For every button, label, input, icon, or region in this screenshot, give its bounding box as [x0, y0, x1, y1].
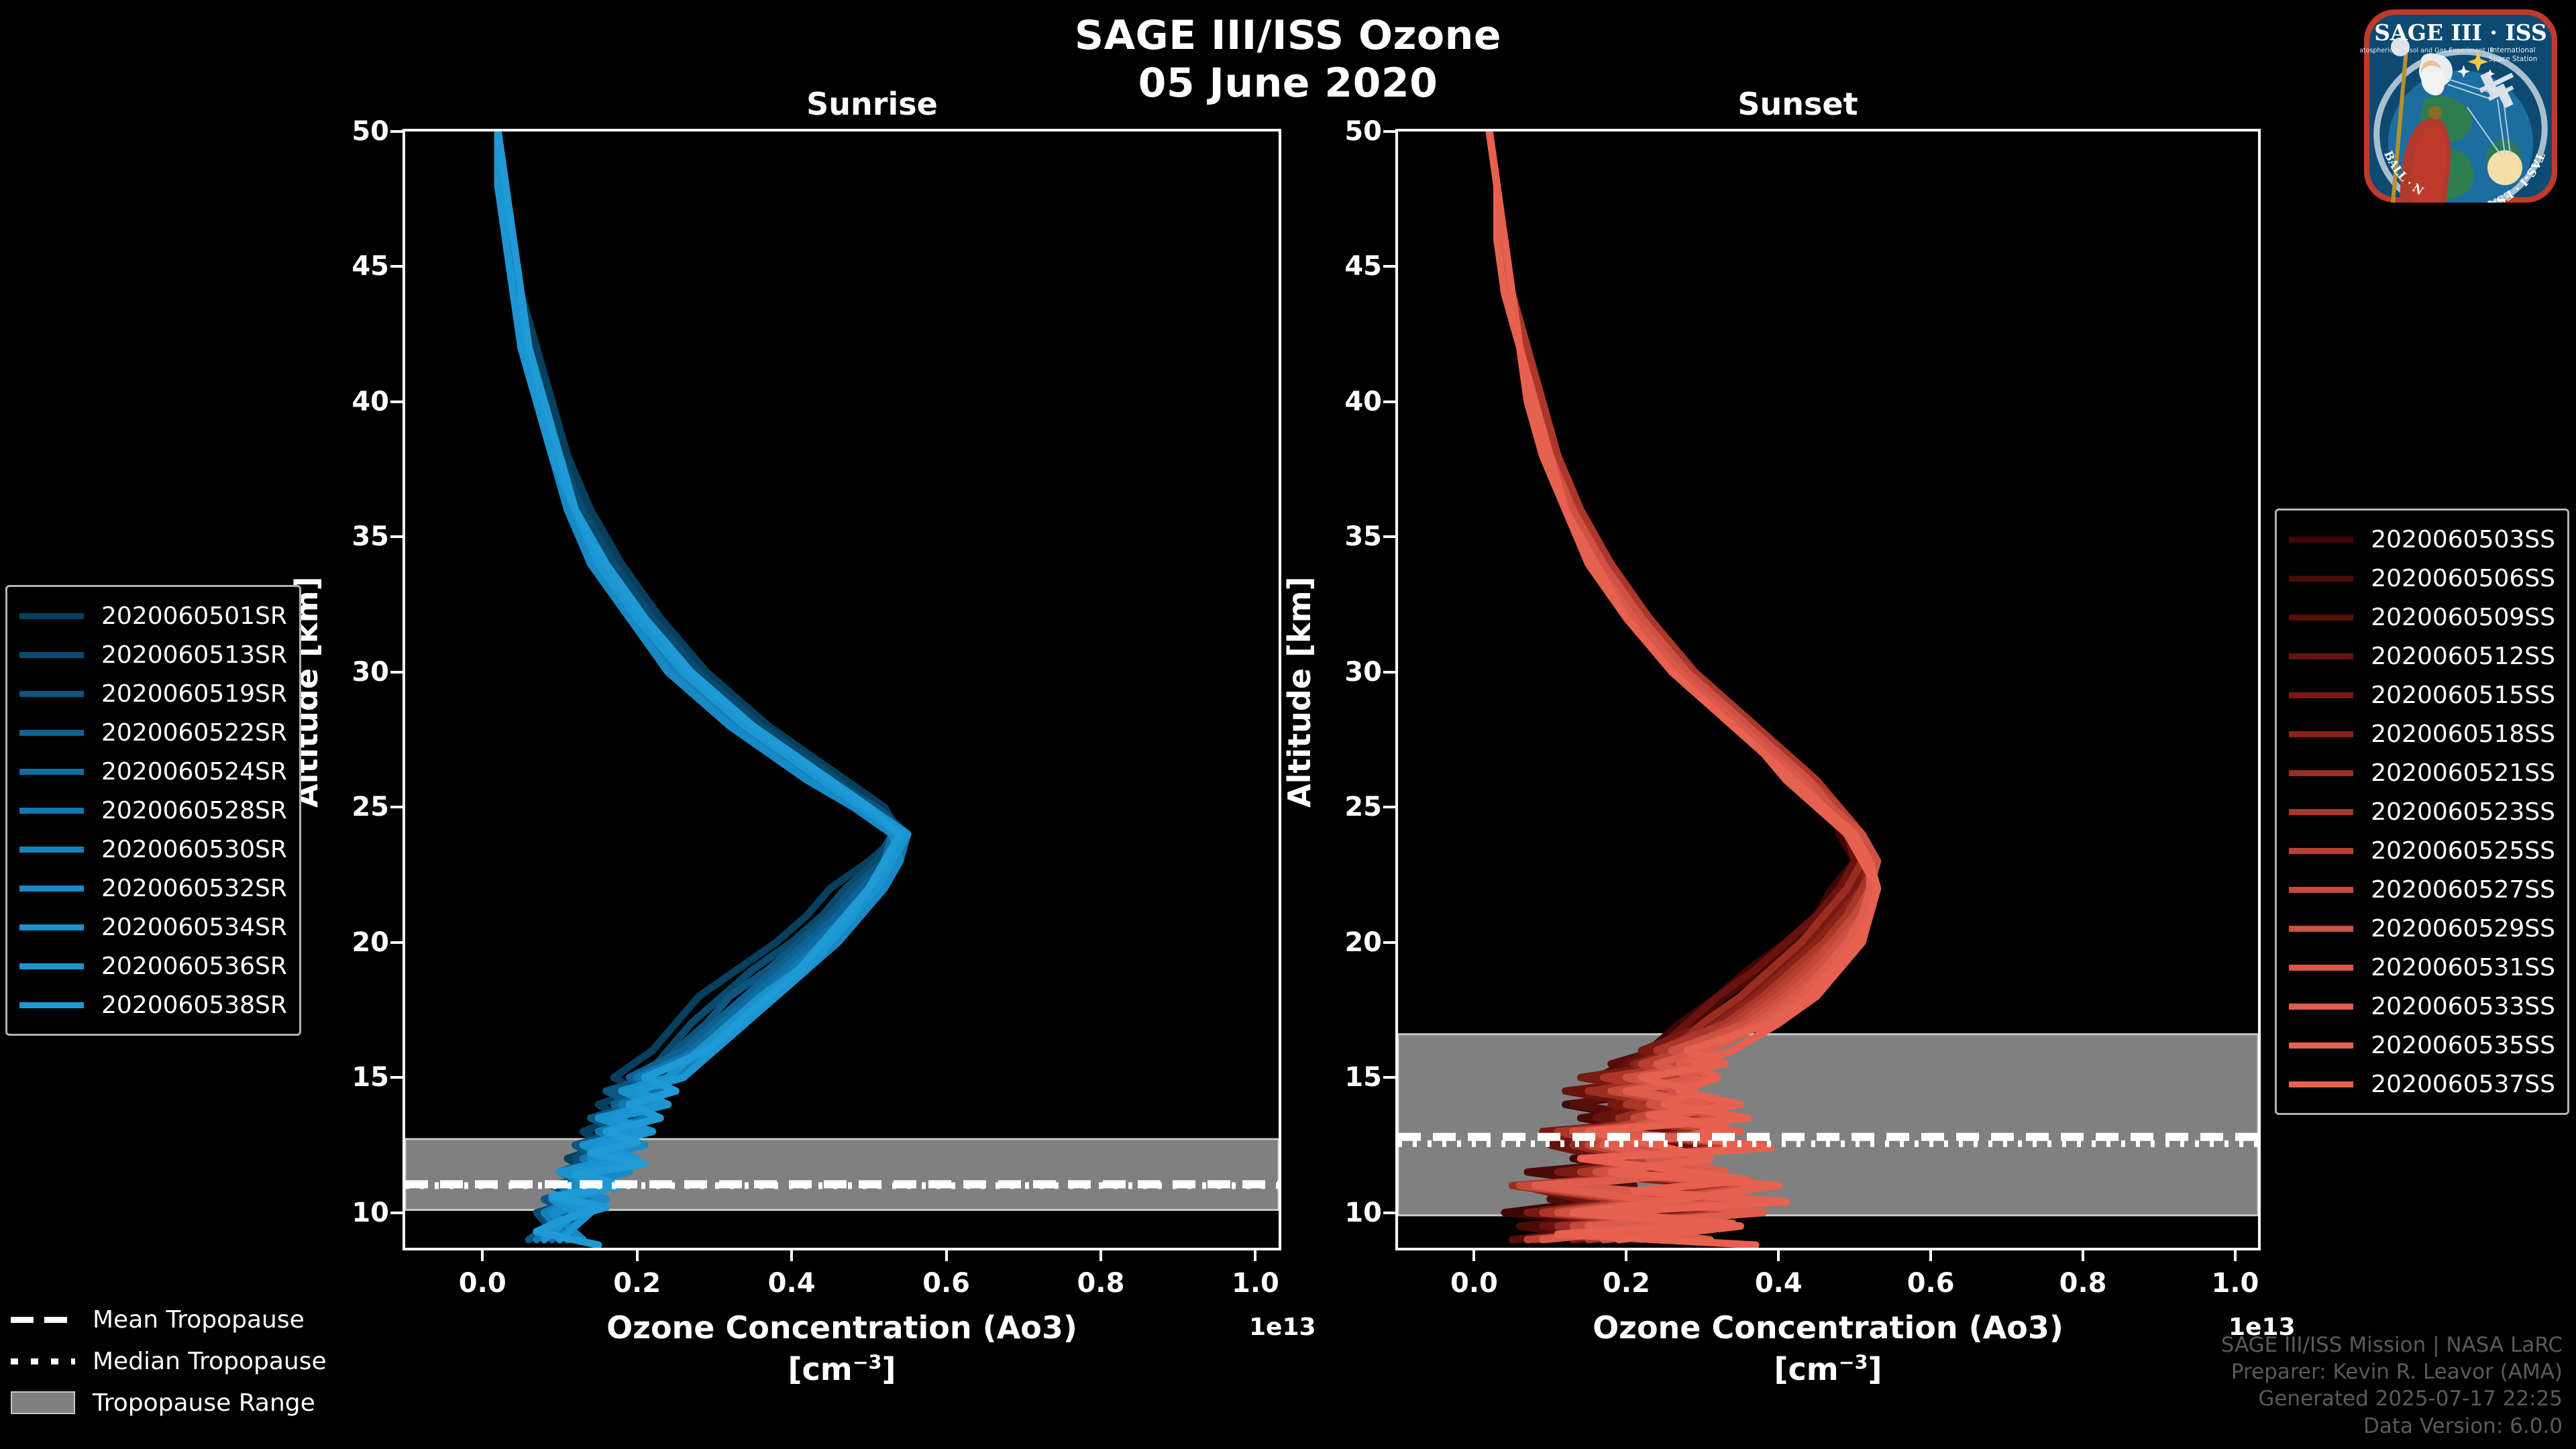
- legend-item[interactable]: 2020060528SR: [19, 791, 287, 830]
- legend-tropopause: Mean Tropopause Median Tropopause Tropop…: [11, 1299, 327, 1424]
- y-axis-tick-label: 35: [1308, 521, 1382, 552]
- shaded-band-icon: [11, 1391, 75, 1414]
- legend-item[interactable]: 2020060532SR: [19, 869, 287, 908]
- tropopause-range-band: [405, 1139, 1279, 1210]
- legend-label: 2020060536SR: [101, 953, 287, 980]
- x-axis-tick-mark: [2234, 1249, 2237, 1261]
- x-axis-tick-mark: [481, 1249, 484, 1261]
- legend-color-swatch: [19, 847, 84, 853]
- legend-item[interactable]: 2020060524SR: [19, 752, 287, 791]
- legend-color-swatch: [19, 691, 84, 697]
- logo-subtitle-right-2: Space Station: [2489, 55, 2538, 63]
- legend-item[interactable]: 2020060529SS: [2289, 909, 2555, 948]
- x-axis-label-line-1: Ozone Concentration (Ao3): [1395, 1309, 2261, 1346]
- legend-item[interactable]: 2020060531SS: [2289, 948, 2555, 987]
- x-axis-label-line-2: [cm−3]: [402, 1351, 1281, 1387]
- legend-item[interactable]: 2020060538SR: [19, 985, 287, 1024]
- panel-title-sunrise: Sunrise: [402, 86, 1342, 122]
- legend-label-tropopause-range: Tropopause Range: [93, 1389, 315, 1417]
- legend-color-swatch: [2289, 1081, 2353, 1087]
- credit-line-preparer: Preparer: Kevin R. Leavor (AMA): [2221, 1358, 2563, 1385]
- legend-label: 2020060519SR: [101, 680, 287, 708]
- legend-item[interactable]: 2020060521SS: [2289, 753, 2555, 792]
- y-axis-tick-label: 15: [1308, 1062, 1382, 1093]
- legend-label: 2020060521SS: [2371, 759, 2555, 787]
- x-axis-unit-prefix: [cm: [788, 1351, 853, 1387]
- dashed-line-icon: [11, 1317, 75, 1323]
- y-axis-tick-label: 25: [315, 792, 389, 822]
- legend-label: 2020060509SS: [2371, 604, 2555, 631]
- logo-title: SAGE III · ISS: [2374, 19, 2546, 46]
- x-axis-unit-prefix: [cm: [1774, 1351, 1839, 1387]
- x-axis-tick-label: 0.0: [459, 1268, 506, 1299]
- legend-item[interactable]: 2020060535SS: [2289, 1026, 2555, 1065]
- y-axis-tick-mark: [390, 806, 402, 808]
- legend-color-swatch: [2289, 848, 2353, 854]
- y-axis-tick-mark: [1383, 400, 1395, 403]
- legend-item[interactable]: 2020060536SR: [19, 947, 287, 985]
- y-axis-tick-label: 20: [1308, 927, 1382, 958]
- legend-color-swatch: [2289, 1042, 2353, 1049]
- title-line-1: SAGE III/ISS Ozone: [0, 12, 2576, 60]
- y-axis-tick-label: 45: [1308, 251, 1382, 282]
- legend-label-median-tropopause: Median Tropopause: [93, 1348, 327, 1375]
- legend-label: 2020060501SR: [101, 602, 287, 630]
- legend-color-swatch: [2289, 576, 2353, 582]
- y-axis-tick-mark: [1383, 1212, 1395, 1214]
- legend-item[interactable]: 2020060515SS: [2289, 676, 2555, 714]
- legend-label: 2020060527SS: [2371, 876, 2555, 904]
- plot-curves: [1398, 131, 2258, 1248]
- x-axis-tick-label: 0.2: [613, 1268, 661, 1299]
- logo-subtitle-right-1: International: [2490, 46, 2535, 54]
- legend-item[interactable]: 2020060530SR: [19, 830, 287, 869]
- y-axis-tick-label: 50: [1308, 116, 1382, 147]
- x-axis-tick-label: 1.0: [1232, 1268, 1279, 1299]
- legend-color-swatch: [19, 808, 84, 814]
- legend-sunrise[interactable]: 2020060501SR2020060513SR2020060519SR2020…: [5, 585, 301, 1036]
- y-axis-tick-label: 30: [315, 657, 389, 688]
- legend-label: 2020060528SR: [101, 797, 287, 824]
- y-axis-tick-mark: [1383, 265, 1395, 268]
- legend-item[interactable]: 2020060518SS: [2289, 714, 2555, 753]
- y-axis-tick-label: 10: [1308, 1197, 1382, 1228]
- legend-color-swatch: [2289, 653, 2353, 659]
- y-axis-label: Altitude [km]: [1281, 576, 1318, 808]
- legend-item[interactable]: 2020060519SR: [19, 674, 287, 713]
- y-axis-tick-mark: [390, 1212, 402, 1214]
- legend-color-swatch: [19, 1002, 84, 1008]
- x-axis-tick-mark: [790, 1249, 793, 1261]
- x-axis-tick-label: 0.0: [1450, 1268, 1498, 1299]
- sunrise-plot-area: [402, 129, 1281, 1250]
- x-axis-tick-label: 0.8: [2059, 1268, 2107, 1299]
- legend-color-swatch: [2289, 692, 2353, 698]
- x-axis-tick-label: 0.2: [1603, 1268, 1650, 1299]
- y-axis-tick-label: 45: [315, 251, 389, 282]
- legend-label: 2020060535SS: [2371, 1032, 2555, 1059]
- legend-item-tropopause-range: Tropopause Range: [11, 1382, 327, 1424]
- legend-color-swatch: [2289, 965, 2353, 971]
- legend-label: 2020060534SR: [101, 914, 287, 941]
- y-axis-tick-mark: [390, 265, 402, 268]
- y-axis-tick-mark: [1383, 130, 1395, 133]
- legend-item[interactable]: 2020060501SR: [19, 596, 287, 635]
- legend-label: 2020060522SR: [101, 719, 287, 747]
- legend-color-swatch: [19, 885, 84, 892]
- legend-label: 2020060532SR: [101, 875, 287, 902]
- sunset-plot-area: [1395, 129, 2261, 1250]
- x-axis-tick-label: 0.4: [1755, 1268, 1803, 1299]
- legend-color-swatch: [19, 652, 84, 658]
- x-axis-tick-mark: [636, 1249, 639, 1261]
- legend-label: 2020060512SS: [2371, 643, 2555, 670]
- legend-label: 2020060524SR: [101, 758, 287, 786]
- x-axis-tick-label: 0.6: [922, 1268, 970, 1299]
- y-axis-tick-label: 30: [1308, 657, 1382, 688]
- legend-label: 2020060525SS: [2371, 837, 2555, 865]
- logo-subtitle-left: Stratospheric Aerosol and Gas Experiment…: [2360, 47, 2493, 54]
- x-axis-tick-mark: [1254, 1249, 1256, 1261]
- y-axis-tick-mark: [1383, 535, 1395, 538]
- legend-color-swatch: [2289, 887, 2353, 893]
- y-axis-tick-mark: [1383, 806, 1395, 808]
- legend-item[interactable]: 2020060533SS: [2289, 987, 2555, 1026]
- legend-color-swatch: [2289, 809, 2353, 815]
- x-axis-tick-mark: [1472, 1249, 1475, 1261]
- y-axis-tick-label: 40: [315, 386, 389, 417]
- legend-label: 2020060503SS: [2371, 526, 2555, 553]
- y-axis-tick-mark: [390, 1076, 402, 1079]
- legend-item[interactable]: 2020060527SS: [2289, 870, 2555, 909]
- x-axis-tick-label: 0.6: [1907, 1268, 1955, 1299]
- y-axis-tick-mark: [1383, 671, 1395, 674]
- y-axis-tick-label: 10: [315, 1197, 389, 1228]
- x-axis-unit-exponent: −3: [853, 1352, 882, 1374]
- credit-line-mission: SAGE III/ISS Mission | NASA LaRC: [2221, 1332, 2563, 1358]
- legend-color-swatch: [2289, 1004, 2353, 1010]
- legend-label: 2020060523SS: [2371, 798, 2555, 826]
- legend-color-swatch: [19, 963, 84, 969]
- y-axis-tick-mark: [390, 130, 402, 133]
- legend-color-swatch: [2289, 926, 2353, 932]
- y-axis-tick-label: 20: [315, 927, 389, 958]
- legend-color-swatch: [2289, 537, 2353, 543]
- y-axis-tick-label: 15: [315, 1062, 389, 1093]
- x-axis-label-line-2: [cm−3]: [1395, 1351, 2261, 1387]
- x-axis-tick-mark: [2082, 1249, 2084, 1261]
- y-axis-tick-mark: [390, 400, 402, 403]
- y-axis-tick-mark: [1383, 941, 1395, 944]
- y-axis-tick-label: 40: [1308, 386, 1382, 417]
- y-axis-tick-label: 50: [315, 116, 389, 147]
- credit-line-data-version: Data Version: 6.0.0: [2221, 1413, 2563, 1440]
- x-axis-tick-mark: [1099, 1249, 1102, 1261]
- x-axis-tick-mark: [945, 1249, 948, 1261]
- credit-line-generated: Generated 2025-07-17 22:25: [2221, 1385, 2563, 1412]
- legend-label: 2020060538SR: [101, 991, 287, 1019]
- legend-item[interactable]: 2020060506SS: [2289, 559, 2555, 598]
- x-axis-tick-mark: [1777, 1249, 1780, 1261]
- legend-color-swatch: [19, 769, 84, 775]
- y-axis-tick-label: 25: [1308, 792, 1382, 822]
- legend-item-mean-tropopause: Mean Tropopause: [11, 1299, 327, 1340]
- legend-sunset[interactable]: 2020060503SS2020060506SS2020060509SS2020…: [2275, 508, 2569, 1115]
- y-axis-tick-mark: [390, 941, 402, 944]
- legend-item[interactable]: 2020060522SR: [19, 713, 287, 752]
- y-axis-tick-mark: [390, 671, 402, 674]
- legend-item[interactable]: 2020060512SS: [2289, 637, 2555, 676]
- legend-color-swatch: [2289, 614, 2353, 621]
- legend-color-swatch: [2289, 770, 2353, 776]
- x-axis-tick-label: 1.0: [2212, 1268, 2259, 1299]
- legend-item[interactable]: 2020060534SR: [19, 908, 287, 947]
- panel-title-sunset: Sunset: [1355, 86, 2241, 122]
- sage-iii-iss-mission-patch-logo: BALL · N TAS-I · ESA SAGE III · ISS Stra…: [2360, 5, 2561, 207]
- y-axis-tick-mark: [1383, 1076, 1395, 1079]
- legend-label: 2020060515SS: [2371, 682, 2555, 709]
- legend-item[interactable]: 2020060513SR: [19, 635, 287, 674]
- legend-item[interactable]: 2020060525SS: [2289, 831, 2555, 870]
- legend-color-swatch: [2289, 731, 2353, 737]
- x-axis-unit-suffix: ]: [1868, 1351, 1882, 1387]
- x-axis-tick-label: 0.8: [1077, 1268, 1125, 1299]
- x-axis-tick-label: 0.4: [768, 1268, 816, 1299]
- dotted-line-icon: [11, 1358, 75, 1364]
- x-axis-exponent-label: 1e13: [1249, 1313, 1316, 1341]
- legend-label: 2020060537SS: [2371, 1071, 2555, 1098]
- x-axis-unit-suffix: ]: [881, 1351, 896, 1387]
- legend-label: 2020060530SR: [101, 836, 287, 863]
- x-axis-tick-mark: [1625, 1249, 1627, 1261]
- legend-label: 2020060518SS: [2371, 720, 2555, 748]
- legend-item[interactable]: 2020060509SS: [2289, 598, 2555, 637]
- legend-label: 2020060531SS: [2371, 954, 2555, 981]
- legend-color-swatch: [19, 924, 84, 930]
- x-axis-unit-exponent: −3: [1839, 1352, 1868, 1374]
- x-axis-label-line-1: Ozone Concentration (Ao3): [402, 1309, 1281, 1346]
- legend-label: 2020060533SS: [2371, 993, 2555, 1020]
- legend-label-mean-tropopause: Mean Tropopause: [93, 1306, 305, 1334]
- legend-item[interactable]: 2020060523SS: [2289, 792, 2555, 831]
- legend-label: 2020060506SS: [2371, 565, 2555, 592]
- legend-item[interactable]: 2020060537SS: [2289, 1065, 2555, 1104]
- credits-block: SAGE III/ISS Mission | NASA LaRC Prepare…: [2221, 1332, 2563, 1440]
- y-axis-tick-label: 35: [315, 521, 389, 552]
- legend-color-swatch: [19, 730, 84, 736]
- legend-label: 2020060513SR: [101, 641, 287, 669]
- plot-curves: [405, 131, 1279, 1248]
- y-axis-tick-mark: [390, 535, 402, 538]
- legend-item[interactable]: 2020060503SS: [2289, 520, 2555, 559]
- legend-color-swatch: [19, 613, 84, 619]
- legend-item-median-tropopause: Median Tropopause: [11, 1340, 327, 1382]
- legend-label: 2020060529SS: [2371, 915, 2555, 943]
- x-axis-tick-mark: [1929, 1249, 1932, 1261]
- series-line: [498, 131, 900, 1240]
